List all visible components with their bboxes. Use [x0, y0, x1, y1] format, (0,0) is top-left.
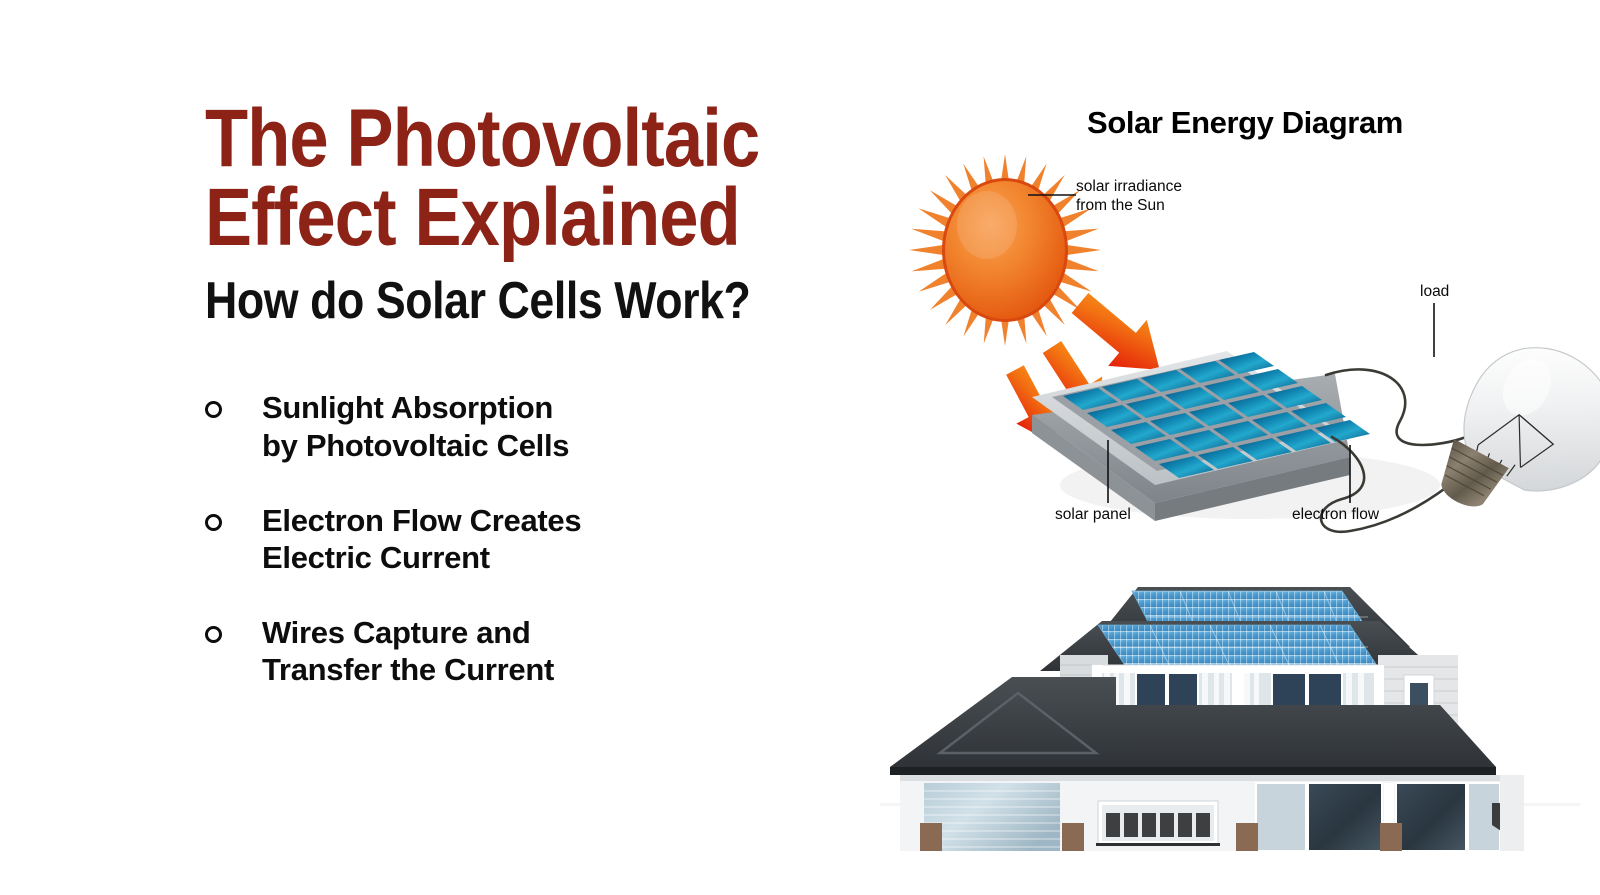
list-item: Electron Flow Creates Electric Current [205, 502, 865, 576]
sun-icon [909, 154, 1101, 346]
label-solar-irradiance: solar irradiance from the Sun [1076, 177, 1182, 216]
solar-panel-3d [1032, 351, 1440, 521]
garage-door [924, 783, 1060, 851]
rooftop-solar-array-lower [1098, 625, 1378, 667]
post [1236, 823, 1258, 851]
label-electron-flow: electron flow [1292, 505, 1379, 524]
post [1062, 823, 1084, 851]
slide-canvas: The Photovoltaic Effect Explained How do… [0, 0, 1600, 895]
solar-energy-diagram: Solar Energy Diagram [880, 85, 1580, 885]
list-item: Sunlight Absorption by Photovoltaic Cell… [205, 389, 865, 463]
key-points-list: Sunlight Absorption by Photovoltaic Cell… [205, 389, 865, 688]
hollow-circle-bullet-icon [205, 514, 222, 531]
list-item: Wires Capture and Transfer the Current [205, 614, 865, 688]
diagram-artwork [880, 85, 1580, 555]
page-subtitle: How do Solar Cells Work? [205, 275, 773, 327]
left-content-column: The Photovoltaic Effect Explained How do… [205, 100, 865, 727]
house-with-rooftop-solar [880, 535, 1580, 865]
label-load: load [1420, 282, 1449, 301]
light-bulb-icon [1423, 323, 1600, 552]
post [1380, 823, 1402, 851]
list-item-label: Wires Capture and Transfer the Current [262, 614, 554, 688]
ground-floor-window [1096, 801, 1220, 846]
list-item-label: Sunlight Absorption by Photovoltaic Cell… [262, 389, 569, 463]
sliding-glass-doors [1256, 783, 1500, 851]
page-title: The Photovoltaic Effect Explained [205, 100, 773, 257]
list-item-label: Electron Flow Creates Electric Current [262, 502, 581, 576]
label-solar-panel: solar panel [1055, 505, 1131, 524]
hollow-circle-bullet-icon [205, 401, 222, 418]
hollow-circle-bullet-icon [205, 626, 222, 643]
post [920, 823, 942, 851]
